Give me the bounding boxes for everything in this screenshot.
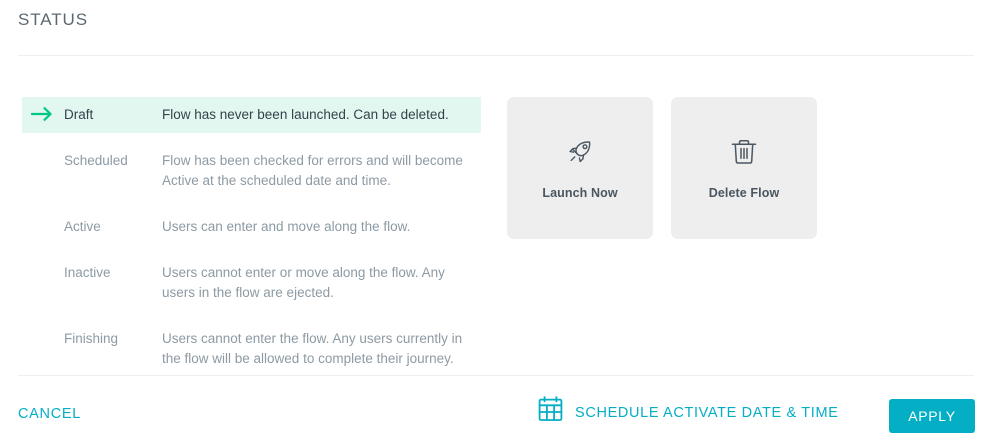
cancel-button[interactable]: CANCEL [18,406,81,422]
card-label: Launch Now [542,186,617,200]
status-name: Finishing [64,329,162,348]
schedule-label: SCHEDULE ACTIVATE DATE & TIME [575,405,839,421]
status-description: Users can enter and move along the flow. [162,217,481,237]
launch-now-card[interactable]: Launch Now [507,97,653,239]
rocket-icon [565,137,595,172]
arrow-placeholder [22,217,64,218]
row-spacer [22,311,481,321]
arrow-placeholder [22,263,64,264]
status-name: Active [64,217,162,236]
apply-button[interactable]: APPLY [889,399,975,433]
status-row-finishing[interactable]: Finishing Users cannot enter the flow. A… [22,321,481,377]
arrow-placeholder [22,151,64,152]
card-label: Delete Flow [709,186,780,200]
status-name: Inactive [64,263,162,282]
page-title: STATUS [18,10,88,30]
header-divider [18,55,974,56]
status-description: Flow has never been launched. Can be del… [162,105,481,125]
status-name: Scheduled [64,151,162,170]
status-description: Flow has been checked for errors and wil… [162,151,481,191]
row-spacer [22,245,481,255]
status-row-inactive[interactable]: Inactive Users cannot enter or move alon… [22,255,481,311]
status-row-active[interactable]: Active Users can enter and move along th… [22,209,481,245]
arrow-right-icon [22,105,64,122]
trash-icon [730,137,758,172]
row-spacer [22,133,481,143]
arrow-placeholder [22,329,64,330]
status-row-scheduled[interactable]: Scheduled Flow has been checked for erro… [22,143,481,199]
status-name: Draft [64,105,162,124]
delete-flow-card[interactable]: Delete Flow [671,97,817,239]
calendar-icon [538,396,563,427]
footer-divider [18,375,974,376]
row-spacer [22,199,481,209]
status-description: Users cannot enter the flow. Any users c… [162,329,481,369]
schedule-activate-button[interactable]: SCHEDULE ACTIVATE DATE & TIME [538,396,839,427]
status-list: Draft Flow has never been launched. Can … [22,97,481,377]
status-panel: STATUS Draft Flow has never been launche… [0,0,992,448]
status-description: Users cannot enter or move along the flo… [162,263,481,303]
status-row-draft[interactable]: Draft Flow has never been launched. Can … [22,97,481,133]
action-cards: Launch Now Delete Flow [507,97,817,239]
